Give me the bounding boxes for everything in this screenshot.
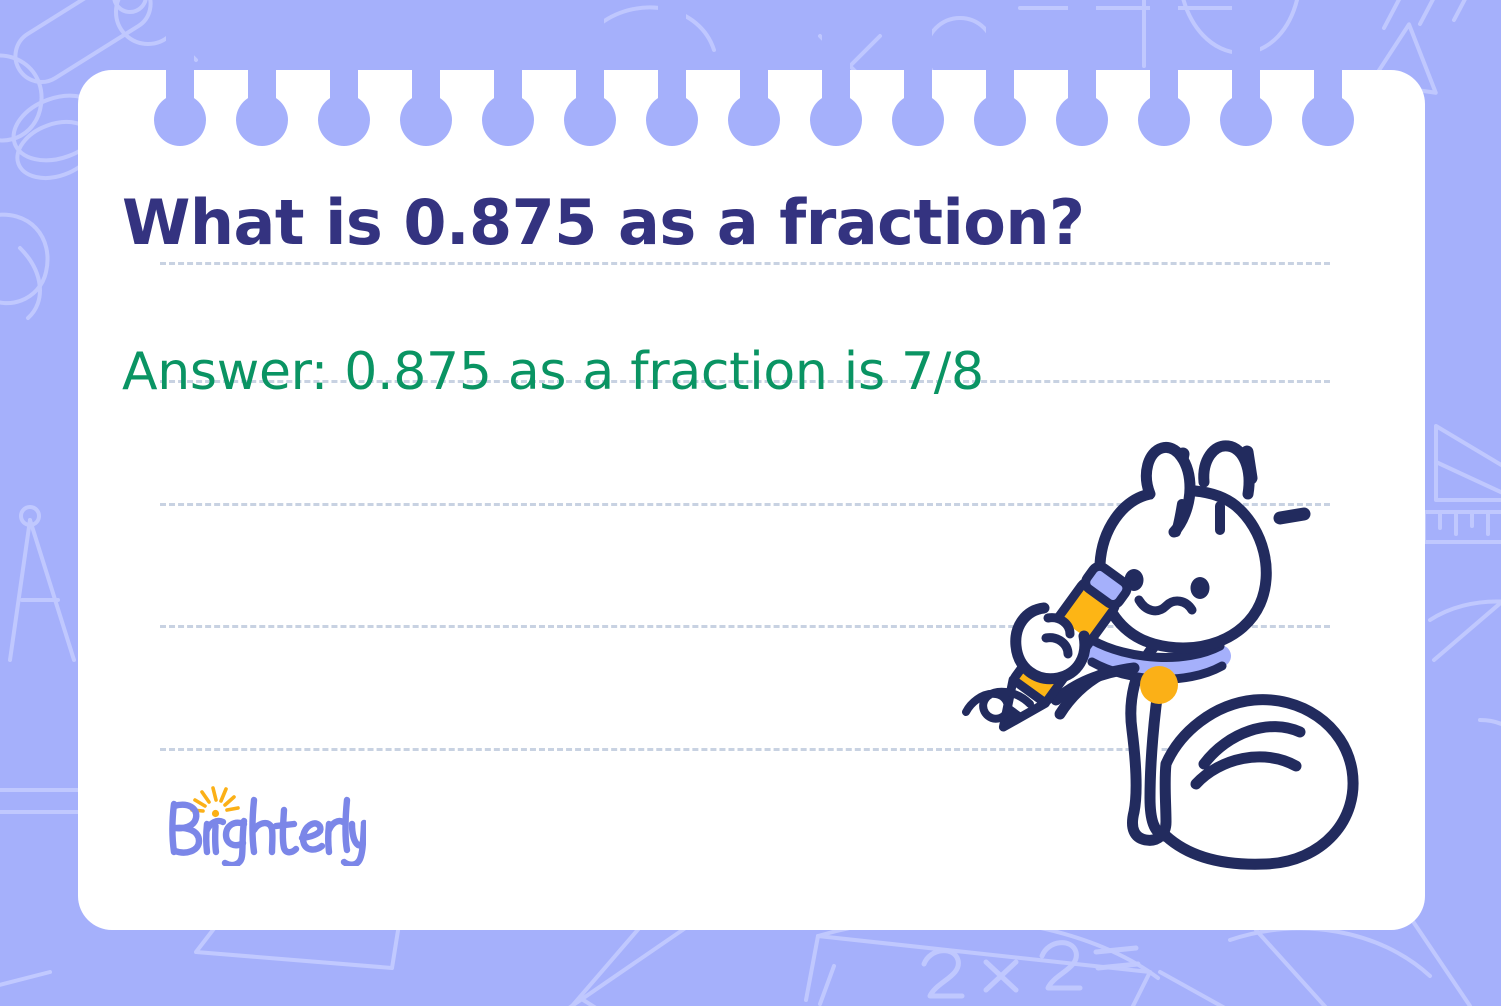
bunny-eye-right <box>1191 577 1210 599</box>
page-root: What is 0.875 as a fraction? Answer: 0.8… <box>0 0 1501 1006</box>
bunny-mascot <box>952 432 1372 882</box>
bunny-ear-left-inner <box>1176 504 1182 532</box>
sunburst-icon <box>192 788 238 811</box>
answer-text: Answer: 0.875 as a fraction is 7/8 <box>122 340 984 404</box>
bunny-ear-right <box>1204 446 1249 494</box>
sunburst-center-dot <box>212 810 219 817</box>
brighterly-logo[interactable] <box>166 786 366 866</box>
bunny-collar-tag <box>1140 666 1178 704</box>
notebook-rule-line <box>160 262 1330 265</box>
page-title: What is 0.875 as a fraction? <box>122 185 1085 261</box>
